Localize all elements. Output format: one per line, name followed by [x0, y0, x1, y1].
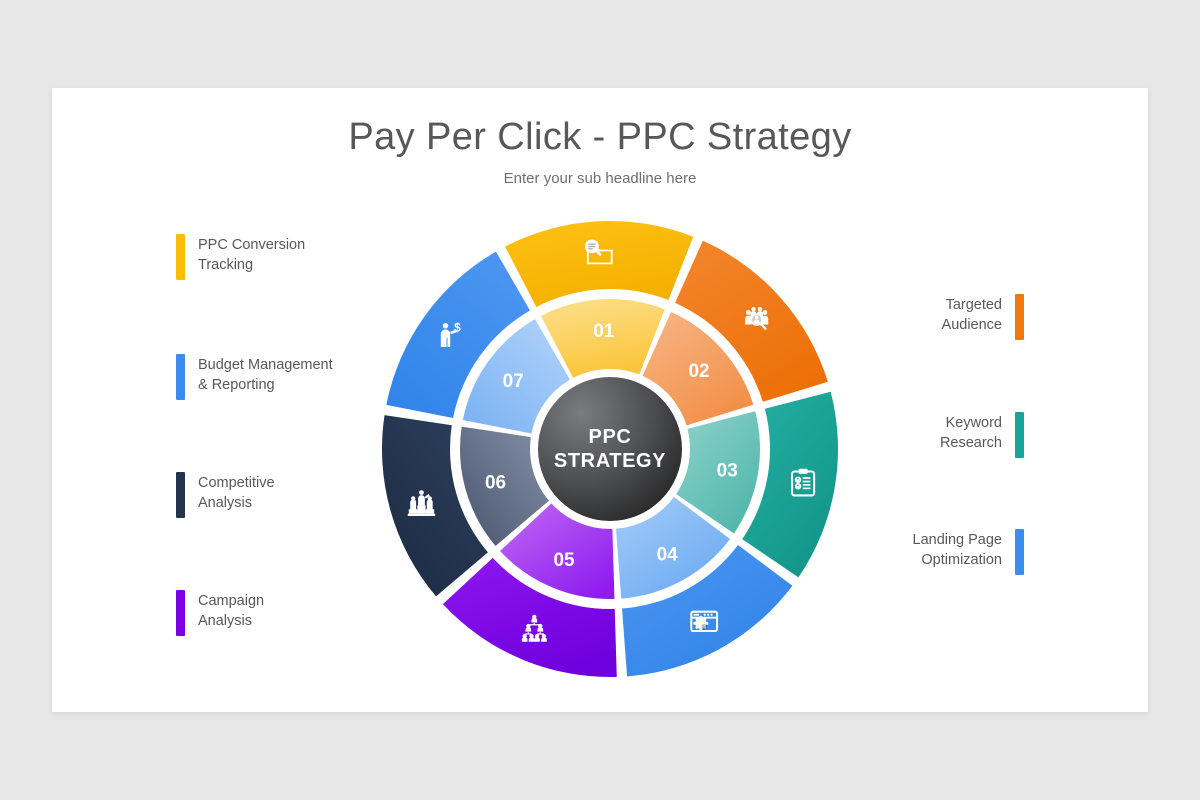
legend-color-bar	[1015, 294, 1024, 340]
legend-color-bar	[176, 354, 185, 400]
segment-06-number: 06	[485, 473, 506, 494]
legend-color-bar	[176, 234, 185, 280]
segment-07-number: 07	[503, 371, 524, 392]
legend-color-bar	[1015, 529, 1024, 575]
legend-item-budget-management[interactable]: Budget Management & Reporting	[176, 354, 333, 400]
legend-label: Campaign Analysis	[198, 590, 264, 636]
svg-text:$: $	[454, 320, 461, 334]
legend-label: Landing Page Optimization	[913, 529, 1003, 575]
legend-item-targeted-audience[interactable]: Targeted Audience	[942, 294, 1024, 340]
page-title: Pay Per Click - PPC Strategy	[52, 116, 1148, 159]
legend-label: Keyword Research	[940, 412, 1002, 458]
legend-item-landing-page-optimization[interactable]: Landing Page Optimization	[913, 529, 1025, 575]
legend-color-bar	[176, 590, 185, 636]
legend-item-ppc-conversion-tracking[interactable]: PPC Conversion Tracking	[176, 234, 305, 280]
legend-color-bar	[176, 472, 185, 518]
legend-label: Targeted Audience	[942, 294, 1002, 340]
legend-item-keyword-research[interactable]: Keyword Research	[940, 412, 1024, 458]
legend-label: Budget Management & Reporting	[198, 354, 333, 400]
segment-02-number: 02	[688, 361, 709, 382]
hub-line-2: STRATEGY	[554, 450, 666, 472]
ppc-strategy-wheel: 01020304050607$ PPC STRATEGY	[371, 210, 849, 688]
legend-item-campaign-analysis[interactable]: Campaign Analysis	[176, 590, 264, 636]
legend-label: PPC Conversion Tracking	[198, 234, 305, 280]
segment-05-number: 05	[553, 550, 575, 571]
segment-04-number: 04	[657, 544, 679, 565]
legend-item-competitive-analysis[interactable]: Competitive Analysis	[176, 472, 275, 518]
hub-line-1: PPC	[589, 426, 632, 448]
segment-01-number: 01	[593, 321, 615, 342]
page-subtitle: Enter your sub headline here	[52, 170, 1148, 187]
hub-disc	[538, 377, 682, 521]
slide-canvas: Pay Per Click - PPC Strategy Enter your …	[52, 88, 1148, 712]
segment-03-number: 03	[717, 460, 738, 481]
legend-label: Competitive Analysis	[198, 472, 275, 518]
legend-color-bar	[1015, 412, 1024, 458]
